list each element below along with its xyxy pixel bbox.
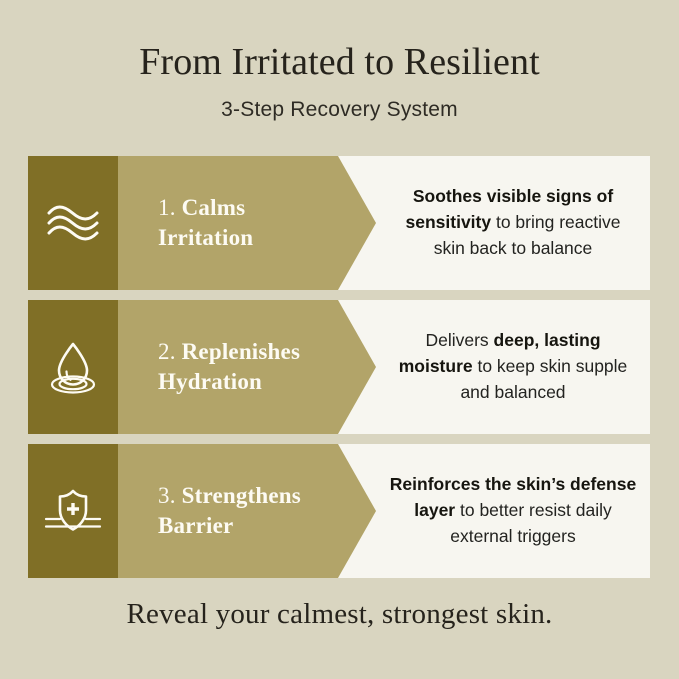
step-description-panel: Soothes visible signs of sensitivity to … (376, 156, 650, 290)
footer-tagline: Reveal your calmest, strongest skin. (126, 598, 552, 630)
page-title: From Irritated to Resilient (0, 41, 679, 84)
step-label: 3. Strengthens Barrier (118, 481, 376, 541)
infographic-poster: From Irritated to Resilient 3-Step Recov… (0, 0, 679, 679)
page-subtitle: 3-Step Recovery System (0, 98, 679, 122)
step-number: 2. (158, 339, 176, 364)
step-number: 3. (158, 483, 176, 508)
step-label: 1. Calms Irritation (118, 193, 376, 253)
step-icon-block (28, 444, 118, 578)
shield-plus-icon (42, 485, 104, 537)
step-label: 2. Replenishes Hydration (118, 337, 376, 397)
step-description-lead: Delivers (425, 330, 493, 350)
step-number: 1. (158, 195, 176, 220)
step-arrow-band: 1. Calms Irritation (118, 156, 376, 290)
waves-icon (46, 202, 100, 244)
step-description: Reinforces the skin’s defense layer to b… (376, 472, 650, 550)
step-description-rest: to keep skin supple and balanced (460, 356, 627, 402)
step-description-panel: Reinforces the skin’s defense layer to b… (376, 444, 650, 578)
step-description-panel: Delivers deep, lasting moisture to keep … (376, 300, 650, 434)
step-row: 3. Strengthens Barrier Reinforces the sk… (28, 444, 650, 578)
step-title: Strengthens Barrier (158, 483, 301, 538)
step-icon-block (28, 156, 118, 290)
steps-list: 1. Calms Irritation Soothes visible sign… (28, 156, 650, 578)
step-arrow-band: 3. Strengthens Barrier (118, 444, 376, 578)
step-description-rest: to better resist daily external triggers (450, 500, 611, 546)
step-row: 2. Replenishes Hydration Delivers deep, … (28, 300, 650, 434)
step-arrow-band: 2. Replenishes Hydration (118, 300, 376, 434)
footer: Reveal your calmest, strongest skin. (0, 598, 679, 631)
water-drop-icon (45, 340, 101, 394)
step-description: Soothes visible signs of sensitivity to … (376, 184, 650, 262)
header: From Irritated to Resilient 3-Step Recov… (0, 0, 679, 122)
step-title: Replenishes Hydration (158, 339, 300, 394)
step-description: Delivers deep, lasting moisture to keep … (376, 328, 650, 406)
step-icon-block (28, 300, 118, 434)
step-row: 1. Calms Irritation Soothes visible sign… (28, 156, 650, 290)
